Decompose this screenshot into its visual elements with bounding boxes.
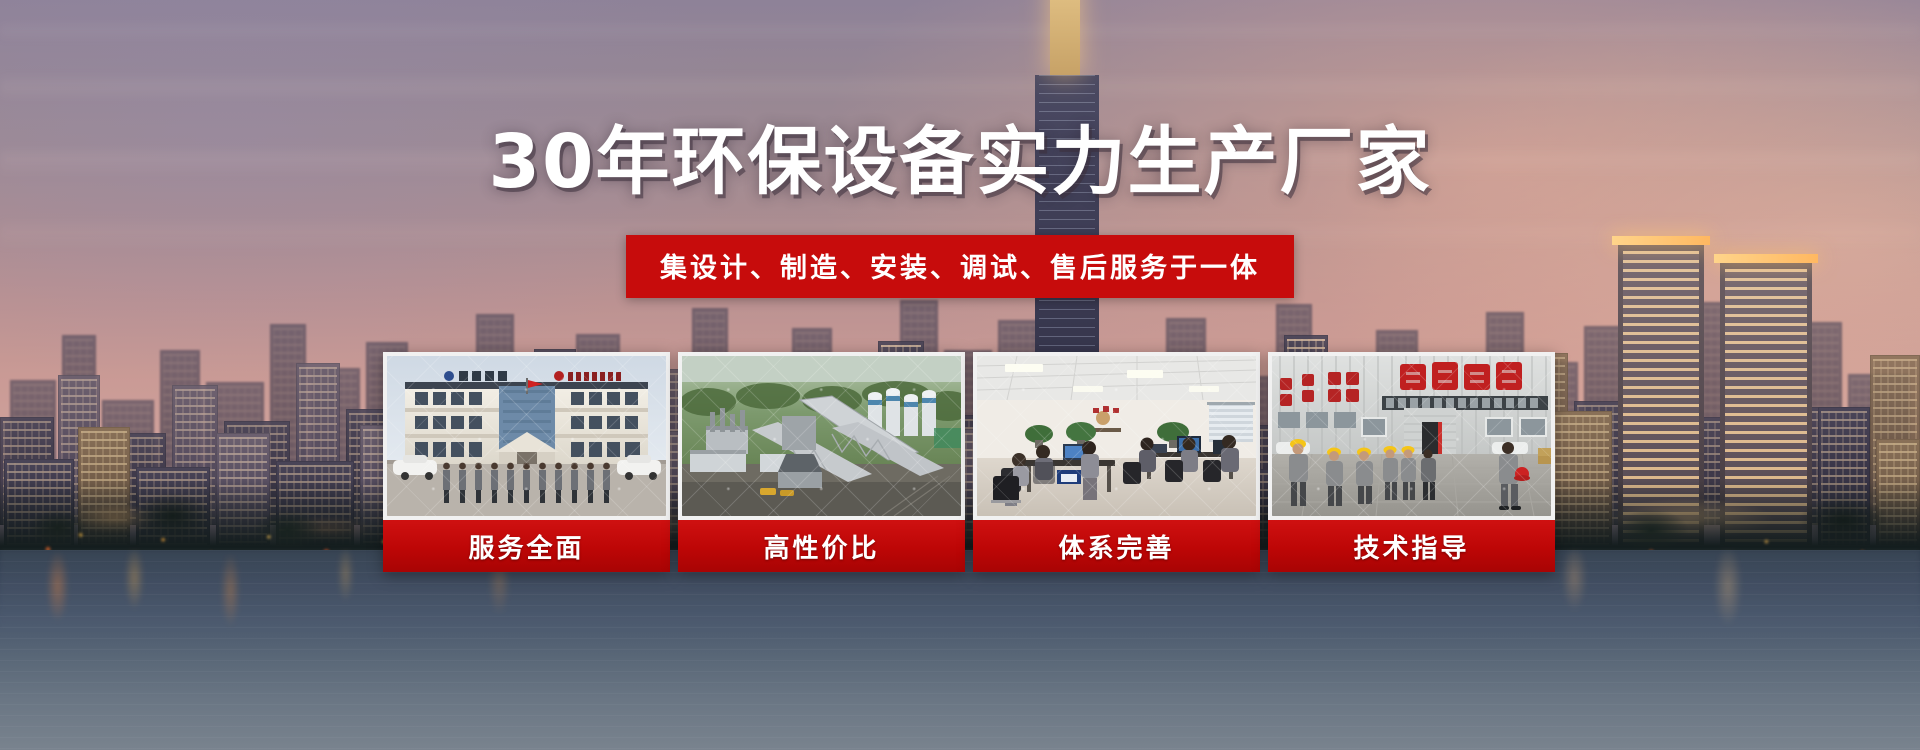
feature-card[interactable]: 体系完善 bbox=[973, 352, 1260, 572]
card-label: 体系完善 bbox=[973, 520, 1260, 572]
card-label: 高性价比 bbox=[678, 520, 965, 572]
feature-card[interactable]: 技术指导 bbox=[1268, 352, 1555, 572]
feature-card[interactable]: 高性价比 bbox=[678, 352, 965, 572]
feature-card[interactable]: 服务全面 bbox=[383, 352, 670, 572]
card-label: 技术指导 bbox=[1268, 520, 1555, 572]
office-workspace-photo bbox=[977, 356, 1256, 516]
hero-banner: 30年环保设备实力生产厂家 集设计、制造、安装、调试、售后服务于一体 bbox=[0, 0, 1920, 750]
factory-workers-training-photo bbox=[1272, 356, 1551, 516]
company-office-building-photo bbox=[387, 356, 666, 516]
feature-card-list: 服务全面 bbox=[383, 352, 1540, 572]
subtitle-banner: 集设计、制造、安装、调试、售后服务于一体 bbox=[626, 235, 1294, 298]
page-title: 30年环保设备实力生产厂家 bbox=[0, 102, 1920, 209]
card-label: 服务全面 bbox=[383, 520, 670, 572]
aerial-production-plant-photo bbox=[682, 356, 961, 516]
